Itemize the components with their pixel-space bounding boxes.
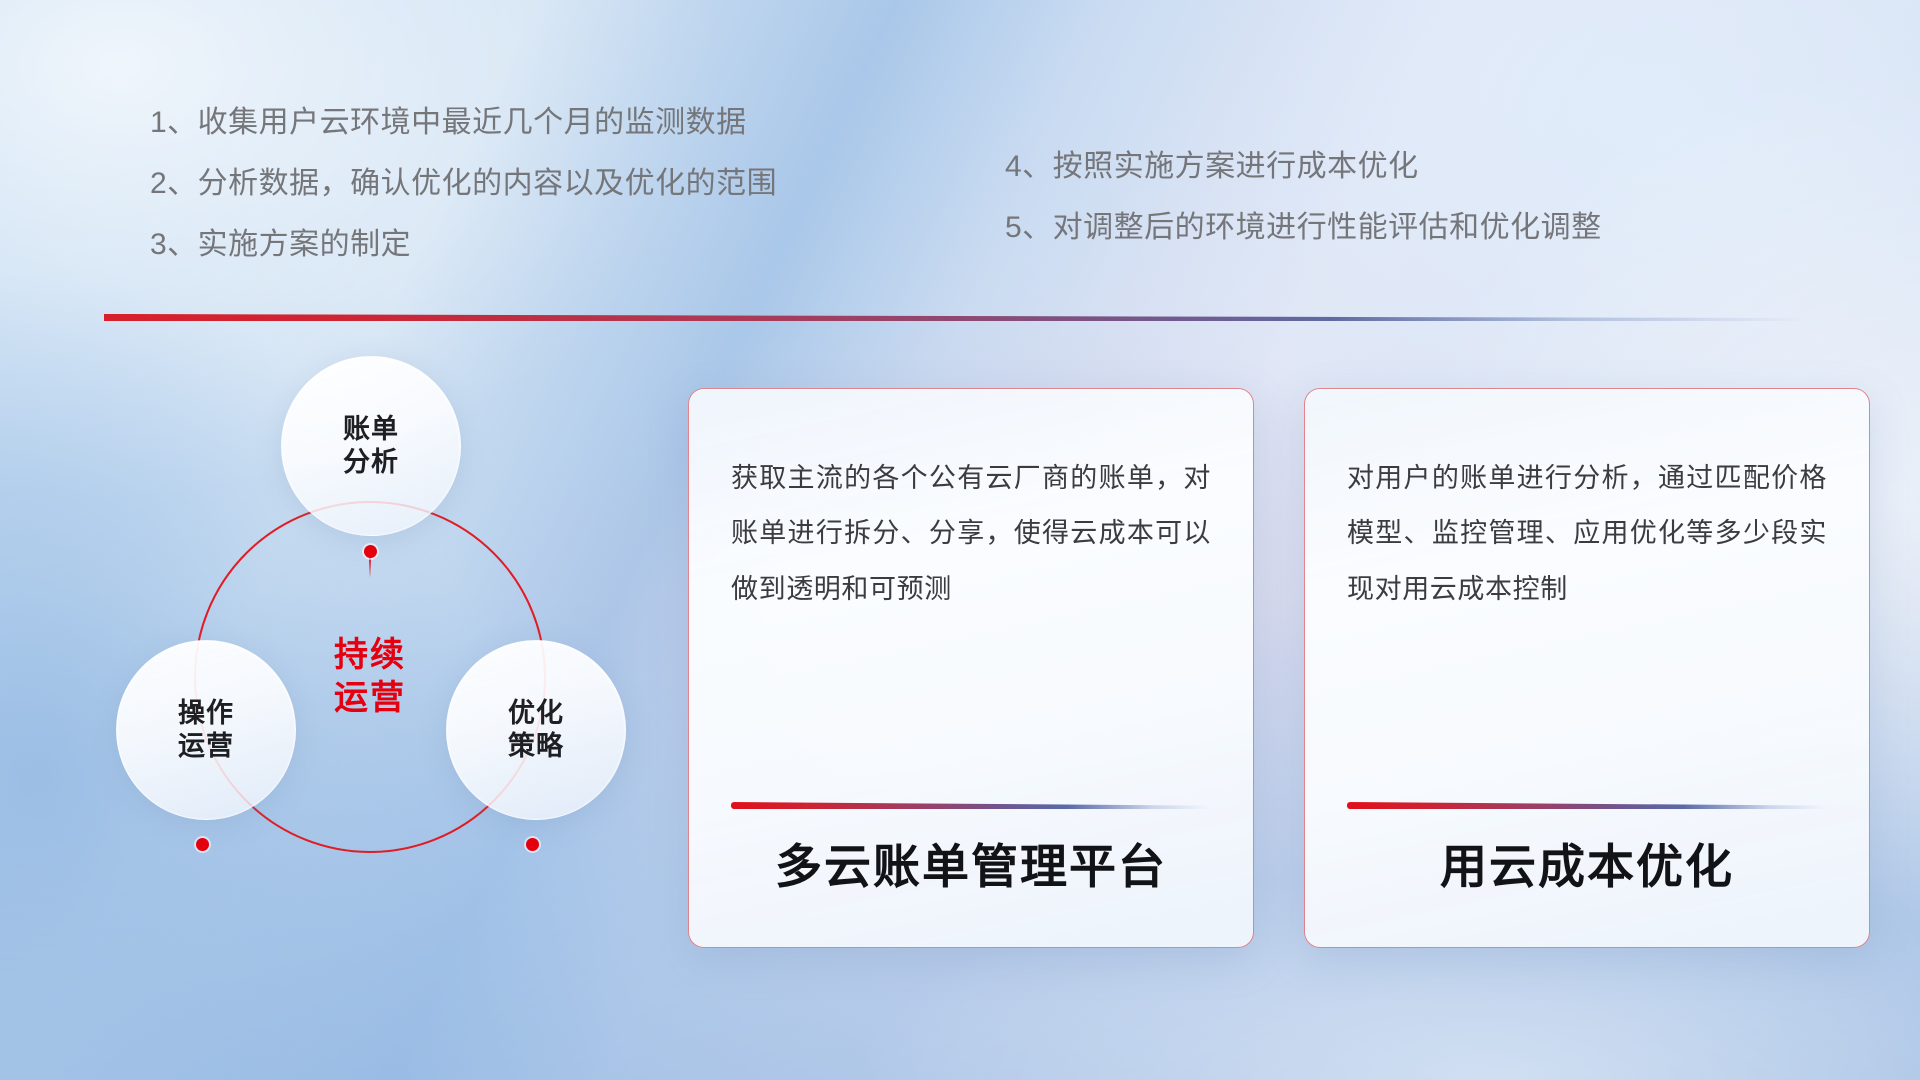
feature-card-title: 用云成本优化 bbox=[1347, 841, 1827, 893]
feature-card-body: 对用户的账单进行分析，通过匹配价格模型、监控管理、应用优化等多少段实现对用云成本… bbox=[1347, 451, 1827, 617]
feature-card-cloud-cost-optimization[interactable]: 对用户的账单进行分析，通过匹配价格模型、监控管理、应用优化等多少段实现对用云成本… bbox=[1304, 388, 1870, 948]
feature-card-multicloud-billing[interactable]: 获取主流的各个公有云厂商的账单，对账单进行拆分、分享，使得云成本可以做到透明和可… bbox=[688, 388, 1254, 948]
feature-card-rule bbox=[1347, 802, 1827, 809]
feature-card-body: 获取主流的各个公有云厂商的账单，对账单进行拆分、分享，使得云成本可以做到透明和可… bbox=[731, 451, 1211, 617]
feature-card-title: 多云账单管理平台 bbox=[731, 841, 1211, 893]
feature-cards-section: 获取主流的各个公有云厂商的账单，对账单进行拆分、分享，使得云成本可以做到透明和可… bbox=[0, 0, 1920, 1080]
feature-card-rule bbox=[731, 802, 1211, 809]
